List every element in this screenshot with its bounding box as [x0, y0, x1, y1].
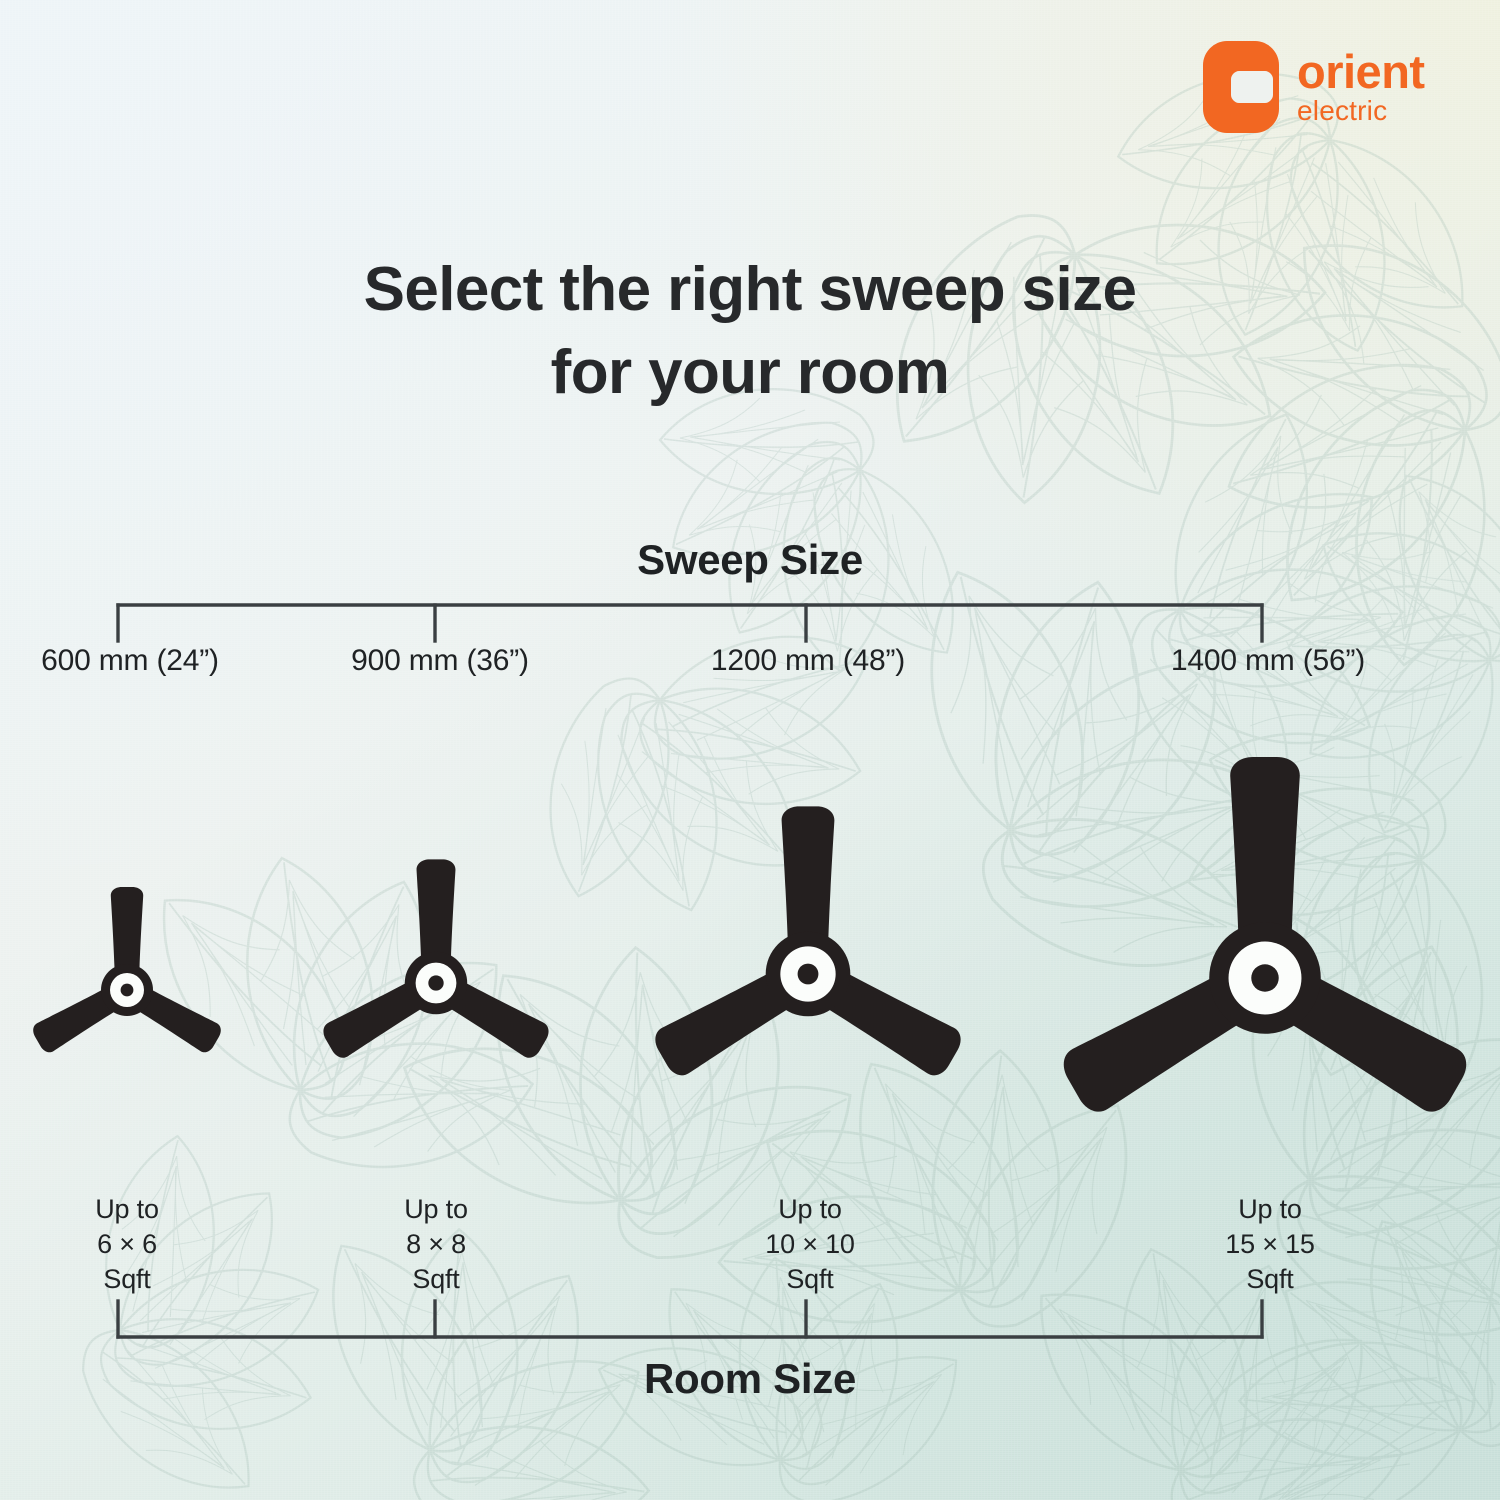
- orient-o-mark-icon: [1203, 41, 1279, 133]
- page-title-line-1: Select the right sweep size: [0, 248, 1500, 331]
- ceiling-fan-icon-600mm: [17, 880, 237, 1100]
- ceiling-fan-icon-1400mm: [1029, 742, 1500, 1214]
- room-label-1-line-3: Sqft: [95, 1262, 159, 1297]
- room-label-4-line-2: 15 × 15: [1225, 1227, 1314, 1262]
- room-label-3-line-3: Sqft: [765, 1262, 854, 1297]
- room-label-2: Up to 8 × 8 Sqft: [404, 1192, 468, 1297]
- infographic-canvas: orient electric Select the right sweep s…: [0, 0, 1500, 1500]
- room-label-1: Up to 6 × 6 Sqft: [95, 1192, 159, 1297]
- room-label-3-line-1: Up to: [765, 1192, 854, 1227]
- brand-logo: orient electric: [1203, 41, 1425, 133]
- sweep-label-1: 600 mm (24”): [41, 644, 219, 678]
- sweep-label-3: 1200 mm (48”): [711, 644, 905, 678]
- ceiling-fan-icon-900mm: [304, 851, 568, 1115]
- room-label-2-line-1: Up to: [404, 1192, 468, 1227]
- room-label-1-line-1: Up to: [95, 1192, 159, 1227]
- ceiling-fan-icon-1200mm: [629, 795, 987, 1153]
- brand-wordmark: orient electric: [1297, 50, 1425, 124]
- page-title-line-2: for your room: [0, 331, 1500, 414]
- sweep-size-heading: Sweep Size: [0, 536, 1500, 584]
- room-label-4: Up to 15 × 15 Sqft: [1225, 1192, 1314, 1297]
- room-size-heading: Room Size: [0, 1355, 1500, 1403]
- room-label-2-line-3: Sqft: [404, 1262, 468, 1297]
- brand-name: orient: [1297, 50, 1425, 93]
- sweep-label-4: 1400 mm (56”): [1171, 644, 1365, 678]
- room-label-4-line-1: Up to: [1225, 1192, 1314, 1227]
- sweep-label-2: 900 mm (36”): [351, 644, 529, 678]
- room-label-4-line-3: Sqft: [1225, 1262, 1314, 1297]
- page-title: Select the right sweep size for your roo…: [0, 248, 1500, 414]
- brand-tagline: electric: [1297, 98, 1425, 124]
- room-label-3: Up to 10 × 10 Sqft: [765, 1192, 854, 1297]
- room-label-2-line-2: 8 × 8: [404, 1227, 468, 1262]
- room-label-1-line-2: 6 × 6: [95, 1227, 159, 1262]
- room-label-3-line-2: 10 × 10: [765, 1227, 854, 1262]
